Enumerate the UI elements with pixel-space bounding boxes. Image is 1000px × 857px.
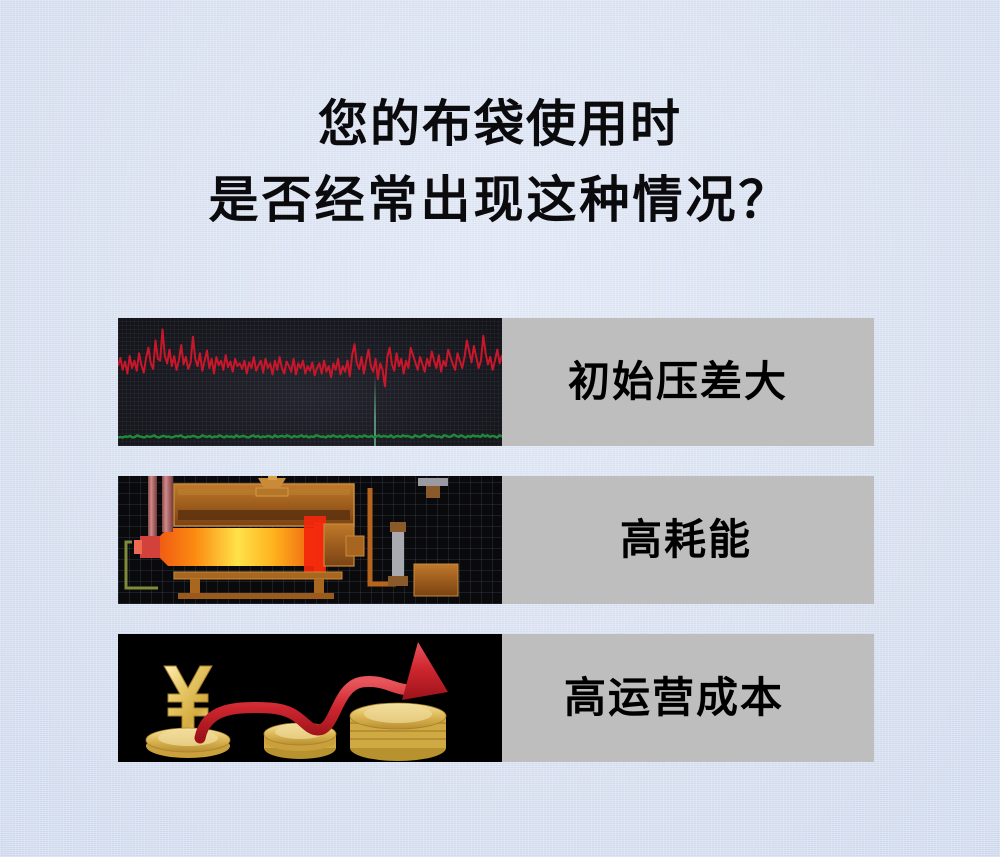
page-title-line-1: 您的布袋使用时 xyxy=(0,86,1000,162)
list-item[interactable]: 高运营成本 xyxy=(118,634,874,762)
issue-label-panel: 高运营成本 xyxy=(502,634,874,762)
rising-cost-coins-thumbnail xyxy=(118,634,502,762)
coin-stack-tall xyxy=(350,703,446,761)
pressure-chart-svg xyxy=(118,318,502,446)
chart-series-2 xyxy=(118,435,502,438)
page-title: 您的布袋使用时 是否经常出现这种情况？ xyxy=(0,86,1000,238)
pressure-differential-chart-thumbnail xyxy=(118,318,502,446)
issue-list: 初始压差大 xyxy=(118,318,874,792)
boiler-furnace-thumbnail xyxy=(118,476,502,604)
promo-page: 您的布袋使用时 是否经常出现这种情况？ 初始压差大 xyxy=(0,0,1000,857)
boiler-illustration-svg xyxy=(118,476,502,604)
issue-label-panel: 高耗能 xyxy=(502,476,874,604)
chart-series-1 xyxy=(118,329,502,386)
list-item[interactable]: 高耗能 xyxy=(118,476,874,604)
coin-stack-small xyxy=(146,728,230,758)
list-item[interactable]: 初始压差大 xyxy=(118,318,874,446)
issue-label: 高运营成本 xyxy=(564,677,784,719)
issue-label: 高耗能 xyxy=(620,519,752,561)
issue-label-panel: 初始压差大 xyxy=(502,318,874,446)
rising-cost-illustration-svg xyxy=(118,634,502,762)
page-title-line-2: 是否经常出现这种情况？ xyxy=(0,162,1000,238)
issue-label: 初始压差大 xyxy=(568,361,788,403)
